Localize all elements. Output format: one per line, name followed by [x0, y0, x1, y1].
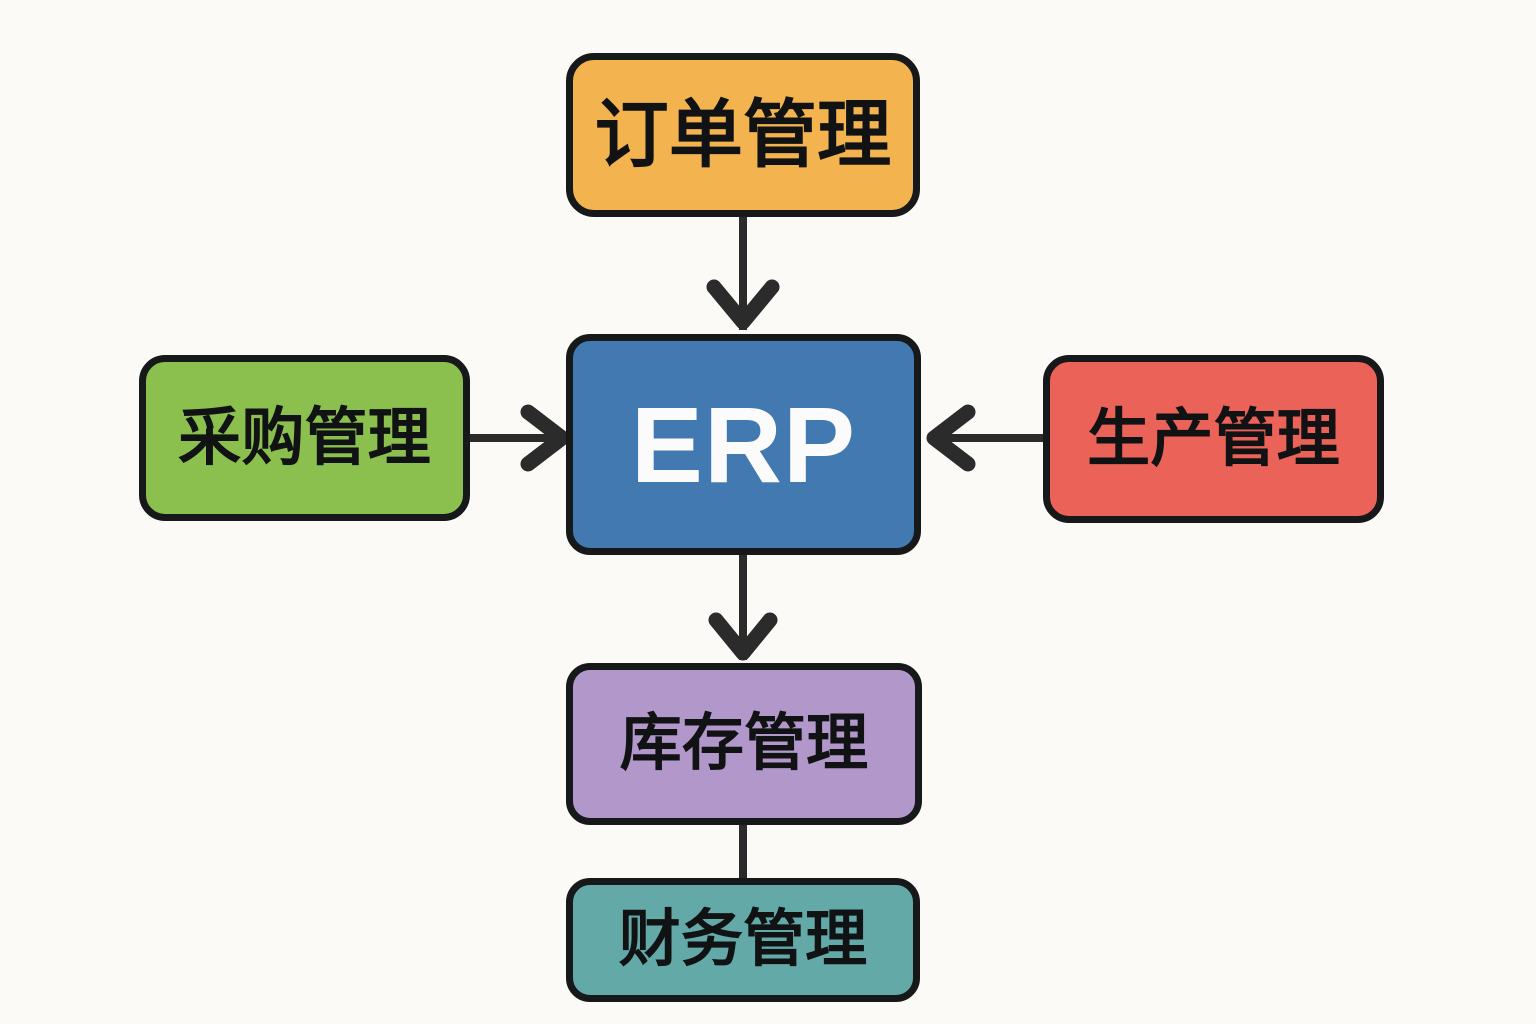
node-finance-management[interactable]: 财务管理	[566, 878, 920, 1002]
node-production-management[interactable]: 生产管理	[1043, 355, 1384, 523]
edge-erp-to-inventory	[716, 555, 770, 660]
edge-purchase-to-erp	[470, 412, 562, 464]
node-erp[interactable]: ERP	[566, 334, 921, 555]
node-purchase-management-label: 采购管理	[178, 407, 431, 470]
node-order-management[interactable]: 订单管理	[566, 53, 920, 217]
node-purchase-management[interactable]: 采购管理	[139, 355, 470, 521]
node-finance-management-label: 财务管理	[619, 909, 868, 971]
edge-order-to-erp	[714, 216, 772, 330]
node-order-management-label: 订单管理	[595, 98, 892, 172]
node-inventory-management[interactable]: 库存管理	[566, 663, 922, 825]
node-erp-label: ERP	[631, 391, 856, 499]
diagram-canvas: 订单管理 ERP 采购管理 生产管理 库存管理 财务管理	[0, 0, 1536, 1024]
node-inventory-management-label: 库存管理	[620, 713, 869, 775]
edge-production-to-erp	[934, 412, 1043, 464]
node-production-management-label: 生产管理	[1087, 408, 1340, 471]
